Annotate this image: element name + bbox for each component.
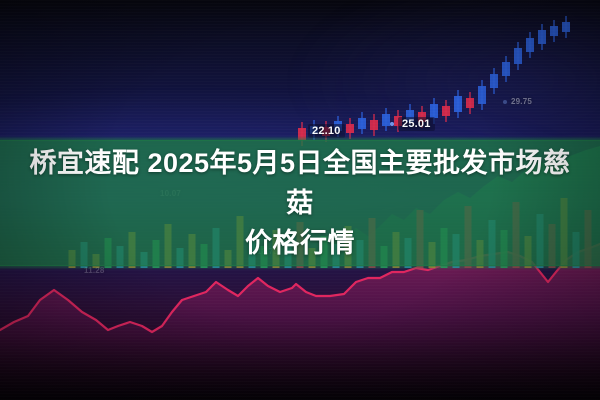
price-label: 25.01: [390, 118, 435, 130]
title-block: 桥宜速配 2025年5月5日全国主要批发市场慈菇 价格行情: [0, 140, 600, 266]
price-marker-dot: [390, 122, 394, 126]
title-line-1: 桥宜速配 2025年5月5日全国主要批发市场慈菇: [18, 143, 582, 223]
price-label-text: 25.01: [398, 117, 435, 131]
price-marker-dot: [503, 100, 507, 104]
title-line-2: 价格行情: [245, 223, 355, 263]
price-label: 29.75: [503, 97, 532, 106]
price-label-text: 29.75: [511, 97, 532, 106]
banner-image: 22.1025.0129.7510.0718.7511.28 桥宜速配 2025…: [0, 0, 600, 400]
